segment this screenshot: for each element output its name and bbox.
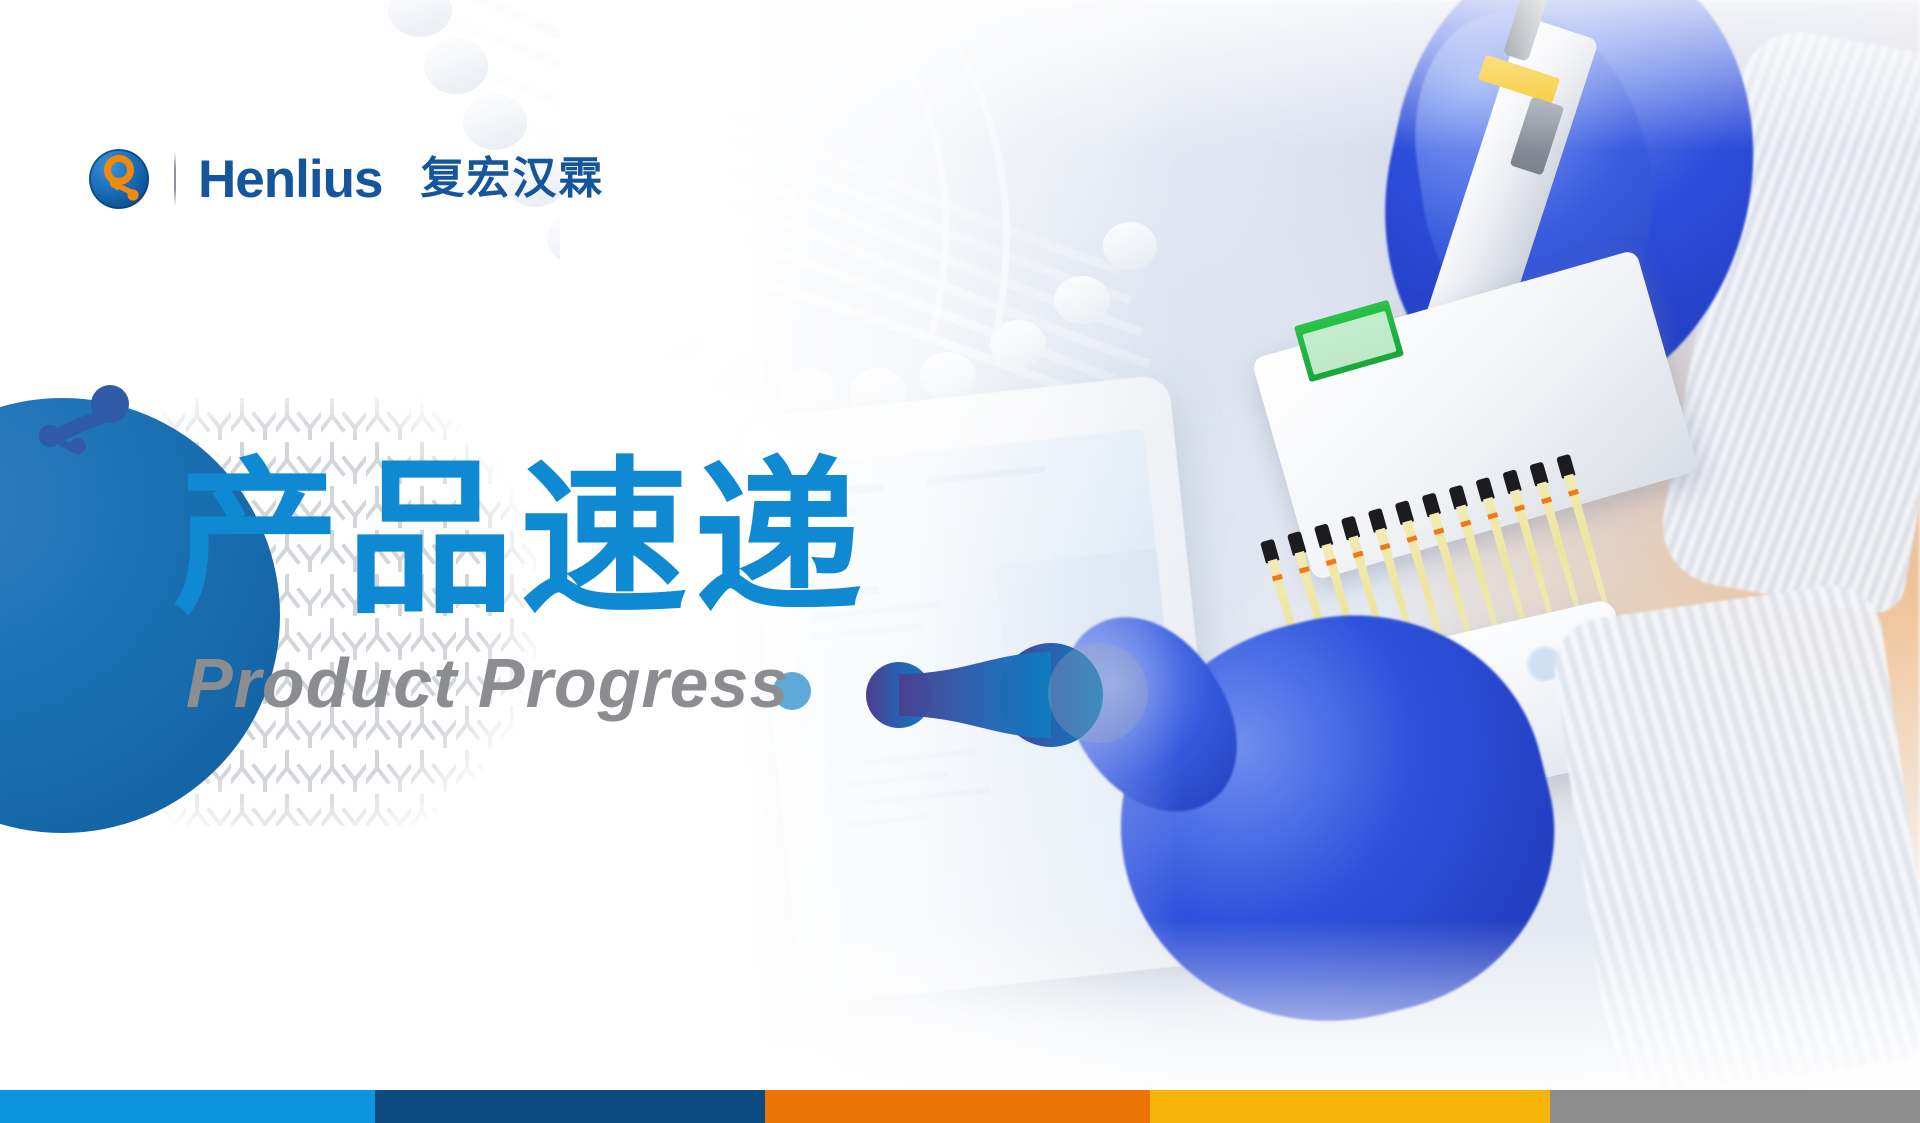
henlius-molecule-badge-icon bbox=[88, 148, 150, 210]
page-subtitle-en: Product Progress bbox=[186, 648, 789, 718]
footer-bar-3 bbox=[1150, 1090, 1550, 1123]
footer-color-bars bbox=[0, 1090, 1920, 1123]
footer-bar-2 bbox=[765, 1090, 1150, 1123]
logo-name-cn: 复宏汉霖 bbox=[420, 157, 604, 201]
ghost-circle-decoration bbox=[1048, 643, 1148, 743]
footer-bar-4 bbox=[1550, 1090, 1920, 1123]
page-title-cn: 产品速递 bbox=[172, 455, 868, 623]
photo-fade-bottom bbox=[600, 920, 1920, 1090]
small-molecule-decoration-icon bbox=[28, 384, 138, 464]
logo-name-en: Henlius bbox=[198, 153, 382, 206]
footer-bar-1 bbox=[375, 1090, 765, 1123]
presentation-cover-slide: Henlius 复宏汉霖 产品速递 Product Progress bbox=[0, 0, 1920, 1123]
footer-bar-0 bbox=[0, 1090, 375, 1123]
henlius-logo[interactable]: Henlius 复宏汉霖 bbox=[88, 148, 604, 210]
logo-divider bbox=[174, 152, 176, 206]
